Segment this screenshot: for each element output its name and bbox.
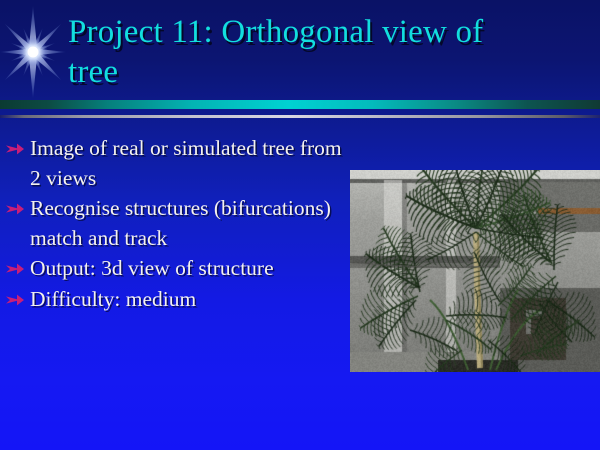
arrow-bullet-icon	[6, 194, 30, 215]
page-title: Project 11: Orthogonal view of tree	[68, 12, 588, 92]
palm-tree-photo	[350, 170, 600, 372]
list-item: Recognise structures (bifurcations) matc…	[6, 194, 342, 253]
arrow-bullet-icon	[6, 285, 30, 306]
palm-tree-photo-canvas	[350, 170, 600, 372]
bullet-text: Difficulty: medium	[30, 285, 342, 315]
bullet-text: Image of real or simulated tree from 2 v…	[30, 134, 342, 193]
bullet-list: Image of real or simulated tree from 2 v…	[6, 134, 342, 315]
list-item: Difficulty: medium	[6, 285, 342, 315]
title-block: Project 11: Orthogonal view of tree	[68, 12, 588, 100]
bullet-text: Recognise structures (bifurcations) matc…	[30, 194, 342, 253]
list-item: Image of real or simulated tree from 2 v…	[6, 134, 342, 193]
thin-divider-line	[0, 115, 600, 118]
list-item: Output: 3d view of structure	[6, 254, 342, 284]
arrow-bullet-icon	[6, 254, 30, 275]
presentation-slide: Project 11: Orthogonal view of tree Imag…	[0, 0, 600, 450]
accent-divider-bar	[0, 100, 600, 109]
bullet-text: Output: 3d view of structure	[30, 254, 342, 284]
eight-point-sparkle-icon	[0, 4, 76, 100]
arrow-bullet-icon	[6, 134, 30, 155]
